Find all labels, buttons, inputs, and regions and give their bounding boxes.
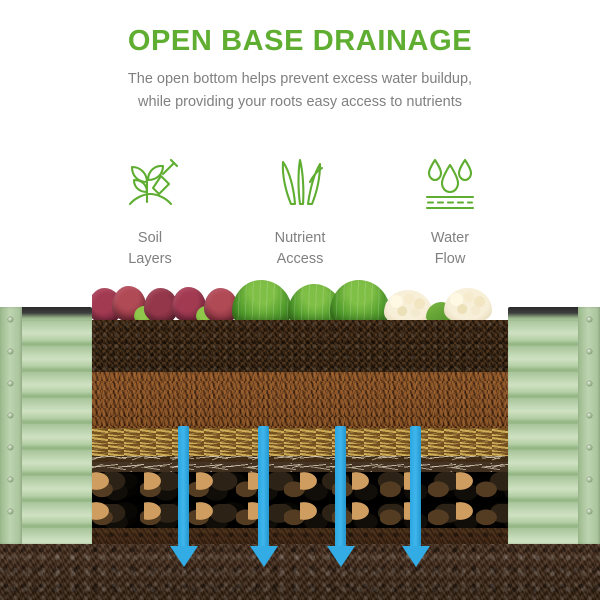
plant-shovel-icon [75,150,225,216]
soil-layer-compost [92,372,508,428]
water-flow-arrow [334,426,347,548]
bed-corner-post-left [0,307,22,544]
screw [587,349,592,354]
soil-cross-section [92,320,508,544]
plant-row [92,278,508,324]
screw [587,477,592,482]
arrow-head [327,546,355,567]
feature-label-line-2: Flow [375,249,525,270]
arrow-head [250,546,278,567]
screw [587,413,592,418]
screw [8,413,13,418]
screw [8,509,13,514]
screw [587,509,592,514]
subtitle-line-1: The open bottom helps prevent excess wat… [128,71,472,87]
feature-label-soil-layers: Soil Layers [75,228,225,269]
grass-blades-icon [225,150,375,216]
water-flow-arrow [257,426,270,548]
product-feature-graphic: OPEN BASE DRAINAGE The open bottom helps… [0,0,600,600]
water-flow-arrow [177,426,190,548]
screw [587,381,592,386]
header: OPEN BASE DRAINAGE The open bottom helps… [0,0,600,113]
arrow-shaft [258,426,269,548]
screw [587,317,592,322]
arrow-shaft [335,426,346,548]
soil-layer-base-soil [92,528,508,544]
feature-label-water-flow: Water Flow [375,228,525,269]
feature-label-line-2: Access [225,249,375,270]
feature-item-soil-layers: Soil Layers [75,150,225,269]
screw [8,477,13,482]
plant-romaine-lettuce [330,280,390,324]
soil-layer-topsoil [92,320,508,372]
feature-label-line-1: Nutrient [225,228,375,249]
screw [8,381,13,386]
raised-garden-bed-illustration [0,278,600,600]
soil-layer-wood-logs [92,472,508,528]
plant-cauliflower [384,290,432,324]
feature-label-line-1: Soil [75,228,225,249]
feature-item-nutrient-access: Nutrient Access [225,150,375,269]
water-flow-arrow [409,426,422,548]
arrow-head [402,546,430,567]
arrow-shaft [410,426,421,548]
bed-panel-left [0,320,92,544]
bed-corner-post-right [578,307,600,544]
feature-item-water-flow: Water Flow [375,150,525,269]
feature-label-line-1: Water [375,228,525,249]
plant-cauliflower [444,288,492,322]
screw [8,349,13,354]
feature-label-nutrient-access: Nutrient Access [225,228,375,269]
arrow-shaft [178,426,189,548]
bed-panel-right [508,320,600,544]
screw [8,317,13,322]
feature-label-line-2: Layers [75,249,225,270]
page-subtitle: The open bottom helps prevent excess wat… [0,56,600,113]
arrow-head [170,546,198,567]
water-drops-drainage-icon [375,150,525,216]
page-title: OPEN BASE DRAINAGE [0,0,600,56]
screw [8,445,13,450]
plant-romaine-lettuce [232,280,292,324]
screw [587,445,592,450]
subtitle-line-2: while providing your roots easy access t… [0,91,600,113]
feature-list: Soil Layers Nutrient Access [0,150,600,269]
ground-soil [0,538,600,600]
